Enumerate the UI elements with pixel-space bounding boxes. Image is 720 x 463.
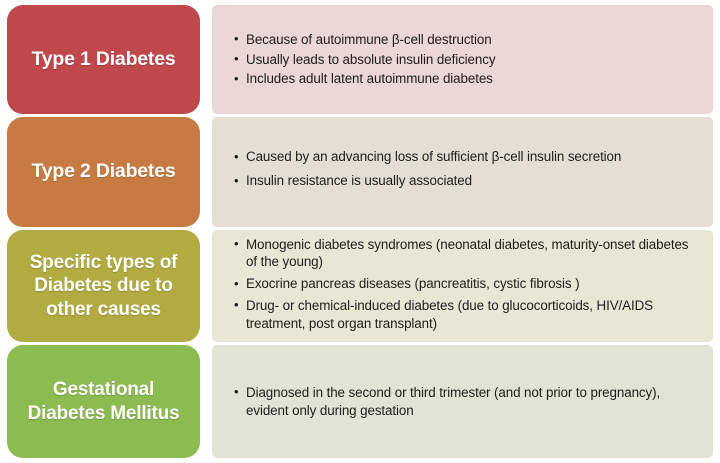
list-item: Diagnosed in the second or third trimest… [234, 384, 701, 420]
bullet-list-type-2-diabetes: Caused by an advancing loss of sufficien… [234, 148, 701, 196]
bullet-list-gestational-diabetes-mellitus: Diagnosed in the second or third trimest… [234, 384, 701, 420]
row-spacer [200, 117, 212, 227]
bullet-list-specific-types-other-causes: Monogenic diabetes syndromes (neonatal d… [234, 236, 701, 337]
list-item: Monogenic diabetes syndromes (neonatal d… [234, 236, 701, 272]
category-label-type-1-diabetes: Type 1 Diabetes [7, 5, 200, 114]
bullet-list-type-1-diabetes: Because of autoimmune β-cell destruction… [234, 31, 701, 88]
list-item: Insulin resistance is usually associated [234, 172, 701, 190]
diagram-row-type-1-diabetes: Type 1 Diabetes Because of autoimmune β-… [7, 5, 713, 114]
category-label-specific-types-other-causes: Specific types of Diabetes due to other … [7, 230, 200, 342]
row-spacer [200, 345, 212, 458]
category-label-gestational-diabetes-mellitus: Gestational Diabetes Mellitus [7, 345, 200, 458]
diagram-row-specific-types-other-causes: Specific types of Diabetes due to other … [7, 230, 713, 342]
diabetes-classification-diagram: Type 1 Diabetes Because of autoimmune β-… [0, 0, 720, 463]
list-item: Drug- or chemical-induced diabetes (due … [234, 297, 701, 333]
category-label-type-2-diabetes: Type 2 Diabetes [7, 117, 200, 227]
list-item: Caused by an advancing loss of sufficien… [234, 148, 701, 166]
content-panel-type-2-diabetes: Caused by an advancing loss of sufficien… [212, 117, 713, 227]
content-panel-type-1-diabetes: Because of autoimmune β-cell destruction… [212, 5, 713, 114]
row-spacer [200, 5, 212, 114]
diagram-row-type-2-diabetes: Type 2 Diabetes Caused by an advancing l… [7, 117, 713, 227]
row-spacer [200, 230, 212, 342]
diagram-row-gestational-diabetes-mellitus: Gestational Diabetes Mellitus Diagnosed … [7, 345, 713, 458]
list-item: Because of autoimmune β-cell destruction [234, 31, 701, 49]
list-item: Usually leads to absolute insulin defici… [234, 51, 701, 69]
content-panel-gestational-diabetes-mellitus: Diagnosed in the second or third trimest… [212, 345, 713, 458]
list-item: Exocrine pancreas diseases (pancreatitis… [234, 275, 701, 293]
list-item: Includes adult latent autoimmune diabete… [234, 70, 701, 88]
content-panel-specific-types-other-causes: Monogenic diabetes syndromes (neonatal d… [212, 230, 713, 342]
